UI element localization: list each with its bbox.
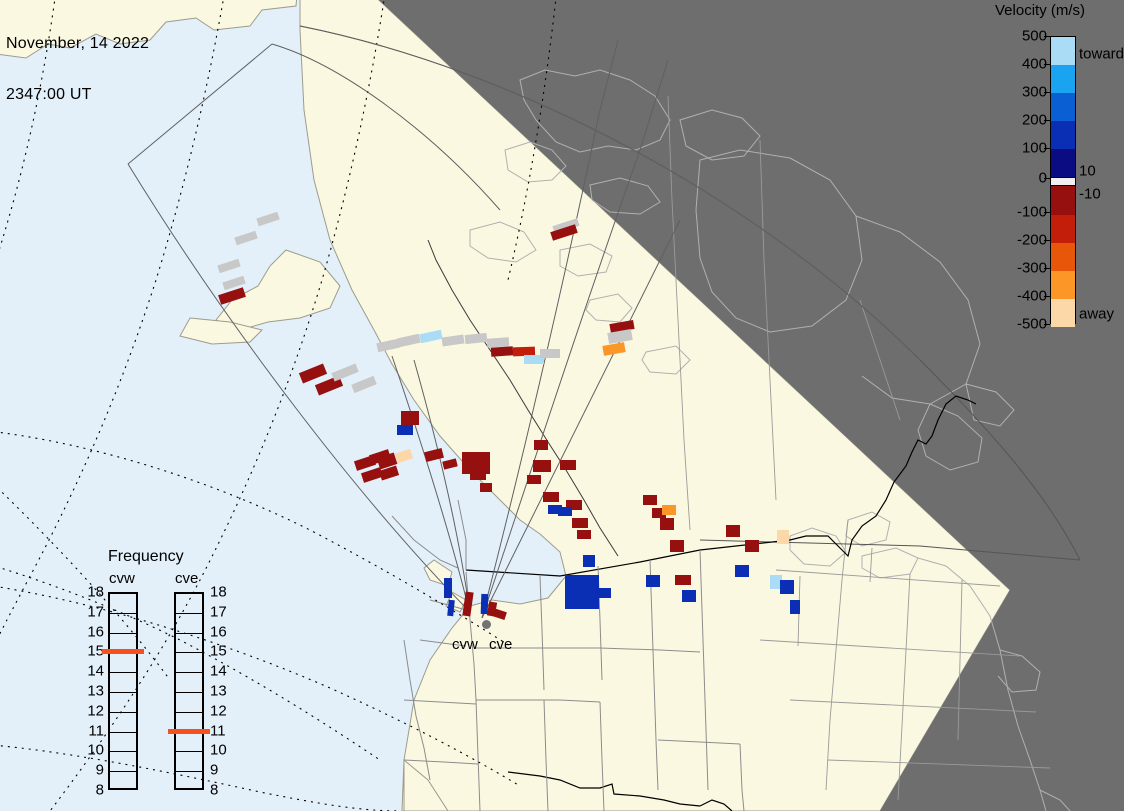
velocity-tick-mark xyxy=(1044,296,1050,297)
velocity-tick-mark xyxy=(1044,212,1050,213)
frequency-tick-label: 10 xyxy=(84,742,104,759)
radar-cell xyxy=(565,575,599,609)
frequency-scale-cell xyxy=(110,733,136,753)
velocity-tick-label: -400 xyxy=(1017,287,1047,304)
frequency-legend-title: Frequency xyxy=(108,548,184,566)
velocity-tick-mark xyxy=(1044,324,1050,325)
frequency-tick-label: 16 xyxy=(210,623,227,640)
radar-cell xyxy=(780,580,794,594)
radar-cell xyxy=(560,460,576,470)
frequency-scale-name: cvw xyxy=(109,570,135,587)
velocity-band xyxy=(1051,299,1075,327)
velocity-band xyxy=(1051,149,1075,177)
radar-cell xyxy=(646,575,660,587)
frequency-scale-cell xyxy=(110,772,136,792)
radar-cell xyxy=(513,347,535,357)
velocity-band xyxy=(1051,243,1075,271)
radar-cell xyxy=(487,337,510,348)
frequency-tick-label: 15 xyxy=(84,643,104,660)
frequency-scale-cell xyxy=(110,713,136,733)
frequency-tick-label: 12 xyxy=(84,702,104,719)
radar-cell xyxy=(470,470,486,480)
velocity-colorbar xyxy=(1050,36,1076,324)
radar-cell xyxy=(682,590,696,602)
timestamp: November, 14 2022 2347:00 UT xyxy=(6,1,149,137)
frequency-scale-cell xyxy=(110,752,136,772)
velocity-band xyxy=(1051,215,1075,243)
velocity-inner-upper-label: 10 xyxy=(1079,162,1096,179)
frequency-tick-label: 14 xyxy=(210,663,227,680)
frequency-scale-cell xyxy=(176,772,202,792)
radar-cell xyxy=(675,575,691,585)
velocity-band xyxy=(1051,186,1075,214)
frequency-scale-cell xyxy=(110,594,136,614)
radar-cell xyxy=(533,460,551,472)
radar-cell xyxy=(572,518,588,528)
velocity-tick-mark xyxy=(1044,64,1050,65)
radar-cell xyxy=(790,600,800,614)
frequency-scale-cell xyxy=(110,653,136,673)
radar-cell xyxy=(401,411,419,425)
velocity-tick-mark xyxy=(1044,240,1050,241)
radar-cell xyxy=(777,530,789,544)
velocity-tick-label: -200 xyxy=(1017,231,1047,248)
frequency-scale-cell xyxy=(176,673,202,693)
frequency-marker xyxy=(168,729,210,734)
radar-cell xyxy=(735,565,749,577)
frequency-tick-label: 12 xyxy=(210,702,227,719)
frequency-scale-column xyxy=(174,592,204,790)
radar-cell xyxy=(643,495,657,505)
frequency-tick-label: 14 xyxy=(84,663,104,680)
radar-cell xyxy=(660,518,674,530)
frequency-tick-label: 18 xyxy=(84,584,104,601)
frequency-scale-cell xyxy=(176,752,202,772)
frequency-tick-label: 15 xyxy=(210,643,227,660)
frequency-scale-cell xyxy=(110,693,136,713)
radar-cell xyxy=(595,588,611,598)
velocity-tick-mark xyxy=(1044,148,1050,149)
velocity-away-label: away xyxy=(1079,306,1114,323)
frequency-tick-label: 10 xyxy=(210,742,227,759)
velocity-tick-mark xyxy=(1044,120,1050,121)
radar-cell xyxy=(670,540,684,552)
velocity-band xyxy=(1051,121,1075,149)
frequency-scale-cell xyxy=(176,733,202,753)
frequency-legend: Frequency cvw18171615141312111098cve1817… xyxy=(84,548,244,798)
velocity-direction-labels: toward10-10away xyxy=(1079,0,1124,340)
frequency-marker xyxy=(102,649,144,654)
frequency-scale-cell xyxy=(176,693,202,713)
frequency-tick-label: 11 xyxy=(210,722,226,739)
frequency-tick-label: 9 xyxy=(210,762,218,779)
radar-cell xyxy=(726,525,740,537)
velocity-band xyxy=(1051,93,1075,121)
radar-fan-plot: November, 14 2022 2347:00 UT Velocity (m… xyxy=(0,0,1124,811)
radar-cell xyxy=(527,475,541,484)
frequency-scale-cell xyxy=(176,594,202,614)
radar-cell xyxy=(543,492,559,502)
frequency-scale-column xyxy=(108,592,138,790)
radar-cell xyxy=(491,346,514,357)
radar-cell xyxy=(558,507,572,516)
velocity-band xyxy=(1051,37,1075,65)
radar-site-label: cvw xyxy=(452,636,478,653)
radar-cell xyxy=(397,425,413,435)
frequency-scale-name: cve xyxy=(175,570,198,587)
radar-site-label: cve xyxy=(489,636,512,653)
frequency-tick-label: 16 xyxy=(84,623,104,640)
radar-cell xyxy=(540,349,560,358)
radar-cell xyxy=(745,540,759,552)
timestamp-date: November, 14 2022 xyxy=(6,35,149,52)
radar-site-marker xyxy=(482,620,491,629)
frequency-scale-cell xyxy=(110,673,136,693)
velocity-band xyxy=(1051,177,1075,186)
frequency-scale-cell xyxy=(176,614,202,634)
frequency-tick-label: 8 xyxy=(210,782,218,799)
frequency-tick-label: 9 xyxy=(84,762,104,779)
frequency-tick-label: 17 xyxy=(210,603,227,620)
velocity-tick-mark xyxy=(1044,36,1050,37)
velocity-tick-mark xyxy=(1044,178,1050,179)
radar-cell xyxy=(480,483,492,492)
velocity-band xyxy=(1051,271,1075,299)
velocity-inner-lower-label: -10 xyxy=(1079,185,1101,202)
frequency-scale-cell xyxy=(110,614,136,634)
frequency-scale-cell xyxy=(176,653,202,673)
frequency-tick-label: 17 xyxy=(84,603,104,620)
radar-cell xyxy=(577,530,591,539)
velocity-tick-label: -100 xyxy=(1017,203,1047,220)
frequency-scale-cell xyxy=(176,634,202,654)
velocity-band xyxy=(1051,65,1075,93)
frequency-tick-label: 13 xyxy=(84,683,104,700)
velocity-tick-mark xyxy=(1044,268,1050,269)
velocity-tick-mark xyxy=(1044,92,1050,93)
radar-cell xyxy=(481,594,489,614)
velocity-toward-label: toward xyxy=(1079,46,1124,63)
radar-cell xyxy=(444,578,452,598)
radar-cell xyxy=(583,555,595,567)
timestamp-time: 2347:00 UT xyxy=(6,86,149,103)
velocity-tick-labels: 5004003002001000-100-200-300-400-500 xyxy=(985,0,1047,330)
frequency-tick-label: 11 xyxy=(84,722,104,739)
velocity-tick-label: -500 xyxy=(1017,316,1047,333)
frequency-tick-label: 13 xyxy=(210,683,227,700)
frequency-tick-label: 18 xyxy=(210,584,227,601)
radar-cell xyxy=(662,505,676,515)
velocity-tick-label: -300 xyxy=(1017,259,1047,276)
frequency-tick-label: 8 xyxy=(84,782,104,799)
radar-cell xyxy=(534,440,548,450)
